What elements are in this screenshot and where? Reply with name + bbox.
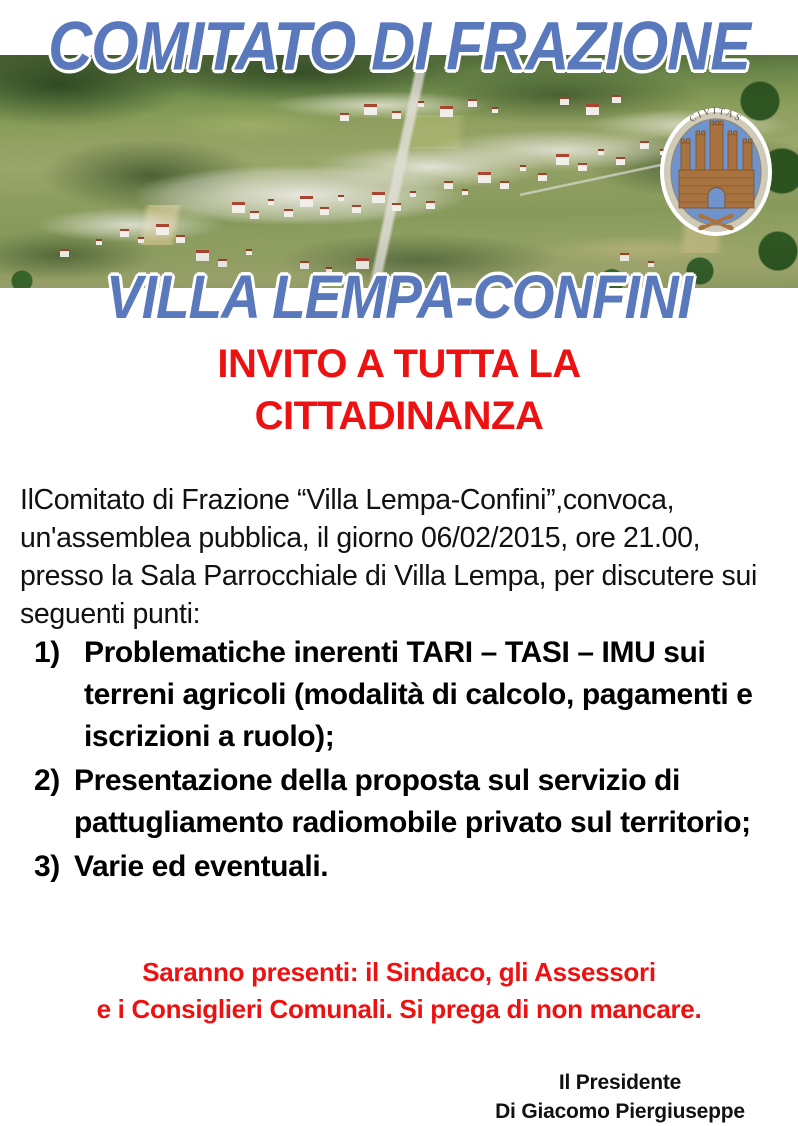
agenda-item-number: 2) bbox=[28, 760, 74, 802]
invitation-heading: INVITO A TUTTA LA CITTADINANZA bbox=[0, 338, 798, 442]
agenda-item-text: Varie ed eventuali. bbox=[74, 846, 780, 888]
signature-block: Il Presidente Di Giacomo Piergiuseppe bbox=[440, 1068, 798, 1126]
village-photo: CIVITAS bbox=[0, 55, 798, 288]
signature-role: Il Presidente bbox=[440, 1068, 798, 1097]
closing-note-line-1: Saranno presenti: il Sindaco, gli Assess… bbox=[0, 954, 798, 991]
agenda-item: 3) Varie ed eventuali. bbox=[28, 846, 780, 888]
invitation-heading-line-1: INVITO A TUTTA LA bbox=[0, 338, 798, 390]
title-line-1-text: COMITATO DI FRAZIONE bbox=[48, 8, 750, 84]
invitation-heading-line-2: CITTADINANZA bbox=[0, 390, 798, 442]
closing-note-line-2: e i Consiglieri Comunali. Si prega di no… bbox=[0, 991, 798, 1028]
agenda-item: 1) Problematiche inerenti TARI – TASI – … bbox=[28, 632, 780, 758]
agenda-item-number: 3) bbox=[28, 846, 74, 888]
closing-note: Saranno presenti: il Sindaco, gli Assess… bbox=[0, 954, 798, 1028]
agenda-item: 2) Presentazione della proposta sul serv… bbox=[28, 760, 780, 844]
poster-page: CIVITAS COMITATO DI FRAZIONE VILLA LEMPA… bbox=[0, 0, 798, 1126]
title-line-2-text: VILLA LEMPA-CONFINI bbox=[106, 262, 692, 331]
agenda-item-number: 1) bbox=[28, 632, 80, 674]
coat-of-arms-icon: CIVITAS bbox=[652, 98, 780, 238]
agenda-item-text: Presentazione della proposta sul servizi… bbox=[74, 760, 780, 844]
signature-name: Di Giacomo Piergiuseppe bbox=[440, 1097, 798, 1126]
agenda-item-text: Problematiche inerenti TARI – TASI – IMU… bbox=[80, 632, 780, 758]
agenda-list: 1) Problematiche inerenti TARI – TASI – … bbox=[28, 632, 780, 890]
poster-title-line-2: VILLA LEMPA-CONFINI bbox=[0, 262, 798, 331]
announcement-paragraph: IlComitato di Frazione “Villa Lempa-Conf… bbox=[20, 481, 782, 633]
poster-title-line-1: COMITATO DI FRAZIONE bbox=[0, 8, 798, 84]
